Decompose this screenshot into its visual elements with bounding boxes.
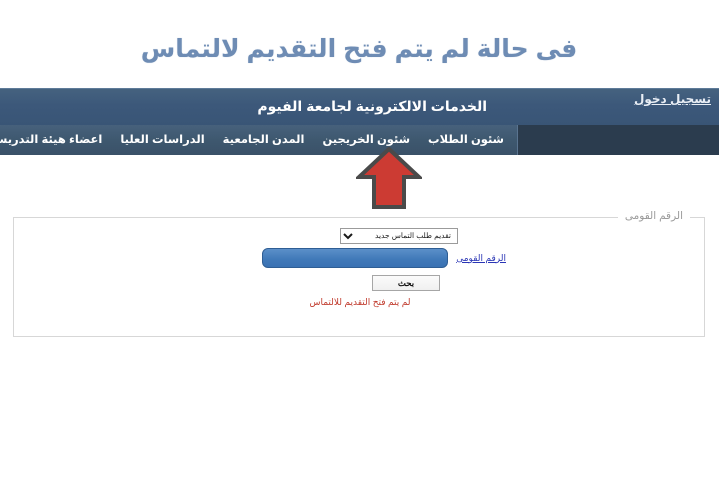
national-id-row: الرقم القومى xyxy=(263,248,507,268)
national-id-fieldset: الرقم القومى تقديم طلب التماس جديد الرقم… xyxy=(14,217,706,337)
site-title: الخدمات الالكترونية لجامعة الفيوم xyxy=(258,98,488,115)
nav-item-graduate-studies[interactable]: الدراسات العليا xyxy=(112,125,214,155)
national-id-label[interactable]: الرقم القومى xyxy=(457,253,507,264)
page-headline: فى حالة لم يتم فتح التقديم لالتماس xyxy=(142,34,579,64)
error-message: لم يتم فتح التقديم للالتماس xyxy=(15,297,707,308)
nav-item-student-affairs[interactable]: شئون الطلاب xyxy=(420,125,514,155)
national-id-input[interactable] xyxy=(263,248,449,268)
site-header: الخدمات الالكترونية لجامعة الفيوم تسجيل … xyxy=(0,88,720,125)
page-content: الرقم القومى تقديم طلب التماس جديد الرقم… xyxy=(0,155,720,483)
request-type-row: تقديم طلب التماس جديد xyxy=(341,225,459,244)
nav-items-container: شئون الطلاب شئون الخريجين المدن الجامعية… xyxy=(0,125,519,155)
nav-item-faculty-members[interactable]: اعضاء هيئة التدريس xyxy=(0,125,112,155)
request-type-select[interactable]: تقديم طلب التماس جديد xyxy=(341,228,459,244)
nav-left-filler xyxy=(519,125,720,155)
login-link[interactable]: تسجيل دخول xyxy=(635,92,712,106)
nav-item-university-cities[interactable]: المدن الجامعية xyxy=(215,125,315,155)
annotation-headline-banner: فى حالة لم يتم فتح التقديم لالتماس xyxy=(0,0,720,88)
search-form: تقديم طلب التماس جديد الرقم القومى بحث ل… xyxy=(15,218,707,336)
up-arrow-icon xyxy=(357,147,423,209)
search-button[interactable]: بحث xyxy=(373,275,441,291)
